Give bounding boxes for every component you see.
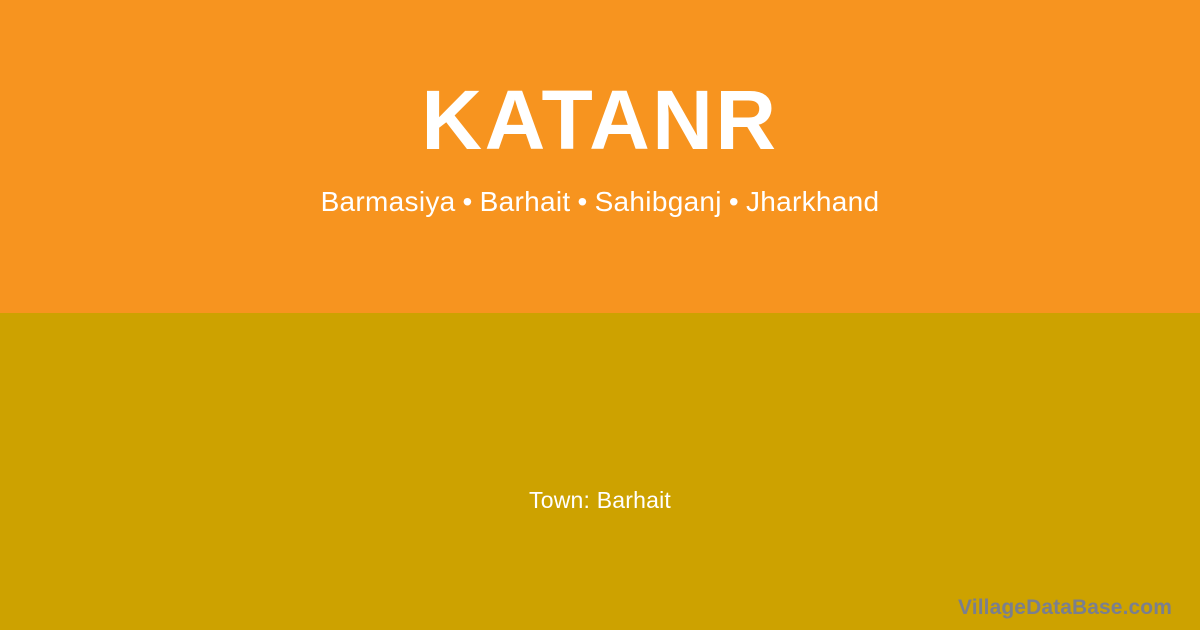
site-watermark: VillageDataBase.com: [958, 595, 1172, 620]
page-title: KATANR: [421, 78, 778, 162]
breadcrumb-separator-icon: •: [456, 184, 480, 219]
breadcrumb: Barmasiya•Barhait•Sahibganj•Jharkhand: [321, 184, 880, 219]
breadcrumb-item: Jharkhand: [746, 186, 879, 217]
hero-band: KATANR Barmasiya•Barhait•Sahibganj•Jhark…: [0, 0, 1200, 313]
detail-band: Town: Barhait: [0, 313, 1200, 630]
breadcrumb-separator-icon: •: [722, 184, 746, 219]
place-card: KATANR Barmasiya•Barhait•Sahibganj•Jhark…: [0, 0, 1200, 630]
town-label: Town: Barhait: [0, 487, 1200, 515]
breadcrumb-item: Sahibganj: [595, 186, 722, 217]
breadcrumb-item: Barmasiya: [321, 186, 456, 217]
breadcrumb-separator-icon: •: [570, 184, 594, 219]
breadcrumb-item: Barhait: [480, 186, 571, 217]
